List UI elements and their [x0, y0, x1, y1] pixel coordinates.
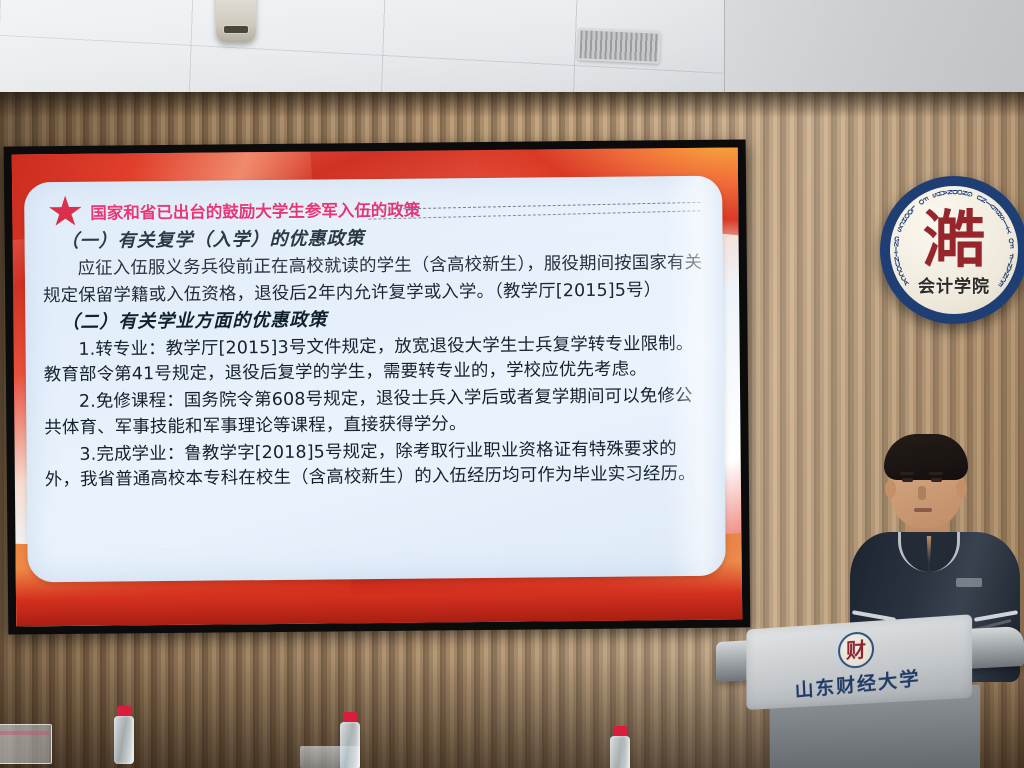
school-emblem: ACCOUNTING SCHOOL OF SHANDONG UNIVERSITY… — [880, 176, 1024, 324]
slide-surface: 国家和省已出台的鼓励大学生参军入伍的政策 （一）有关复学（入学）的优惠政策 应征… — [12, 148, 742, 627]
presenter-brow-right — [929, 472, 943, 475]
presenter-brow-left — [900, 472, 914, 475]
ceiling-speaker-icon — [216, 0, 256, 42]
presenter-eye-right — [931, 478, 942, 482]
water-bottle — [610, 726, 630, 768]
bottle-body — [340, 722, 360, 768]
title-dashed-rule — [368, 204, 700, 225]
bottle-body — [114, 716, 134, 764]
projection-screen[interactable]: 国家和省已出台的鼓励大学生参军入伍的政策 （一）有关复学（入学）的优惠政策 应征… — [4, 139, 751, 634]
presenter-hair — [884, 434, 968, 480]
dashed-line-2 — [368, 210, 700, 219]
emblem-seal-glyph: 澔 — [915, 203, 993, 277]
podium[interactable]: 财 山东财经大学 — [716, 612, 1024, 768]
presenter-chest-logo — [956, 578, 982, 587]
presenter-eye-left — [902, 478, 913, 482]
bottle-body — [610, 736, 630, 768]
wall-top-shadow — [0, 92, 1024, 118]
water-bottle — [114, 706, 134, 764]
lecture-hall-scene: 国家和省已出台的鼓励大学生参军入伍的政策 （一）有关复学（入学）的优惠政策 应征… — [0, 0, 1024, 768]
bottle-cap — [613, 726, 627, 736]
red-star-icon — [48, 195, 82, 228]
podium-front-panel: 财 山东财经大学 — [746, 614, 972, 710]
section-2-paragraph-1: 1.转专业：教学厅[2015]3号文件规定，放宽退役大学生士兵复学转专业限制。教… — [44, 331, 706, 389]
presenter-mouth — [914, 508, 932, 512]
air-vent-icon — [577, 28, 660, 64]
slide-title-row: 国家和省已出台的鼓励大学生参军入伍的政策 — [48, 192, 704, 226]
section-1-paragraph-1: 应征入伍服义务兵役前正在高校就读的学生（含高校新生），服役期间按国家有关规定保留… — [43, 250, 705, 309]
bottle-cap — [343, 712, 357, 722]
section-2-paragraph-2: 2.免修课程：国务院令第608号规定，退役士兵入学后或者复学期间可以免修公共体育… — [44, 384, 706, 442]
presenter-nose — [918, 486, 926, 500]
presenter-ear-left — [885, 480, 896, 498]
emblem-inner-disc: ACCOUNTING SCHOOL OF SHANDONG UNIVERSITY… — [887, 183, 1021, 317]
table-glass-item — [0, 724, 52, 764]
podium-emblem-icon: 财 — [838, 631, 874, 669]
slide-content-card: 国家和省已出台的鼓励大学生参军入伍的政策 （一）有关复学（入学）的优惠政策 应征… — [24, 176, 726, 583]
emblem-chinese-name: 会计学院 — [890, 272, 1018, 297]
presenter-ear-right — [956, 480, 967, 498]
section-2-paragraph-3: 3.完成学业：鲁教学字[2018]5号规定，除考取行业职业资格证有特殊要求的外，… — [45, 436, 707, 494]
bottle-cap — [117, 706, 131, 716]
slide-body: （一）有关复学（入学）的优惠政策 应征入伍服义务兵役前正在高校就读的学生（含高校… — [42, 222, 707, 494]
water-bottle — [340, 712, 360, 768]
